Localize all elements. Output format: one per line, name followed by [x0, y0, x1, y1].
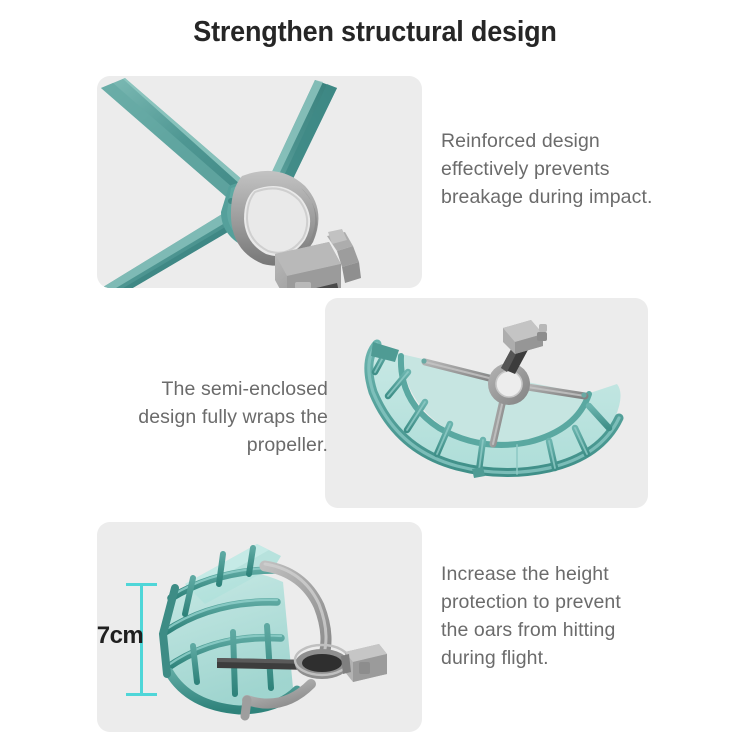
feature-caption-semi-enclosed-design: The semi-enclosed design fully wraps the…: [128, 375, 328, 459]
dimension-cap-bottom: [126, 693, 157, 696]
feature-caption-height-protection: Increase the height protection to preven…: [441, 560, 651, 672]
propeller-guard-semi-enclosed-photo: [325, 298, 648, 508]
page-title: Strengthen structural design: [26, 16, 724, 49]
feature-caption-reinforced-design: Reinforced design effectively prevents b…: [441, 127, 656, 211]
height-dimension-annotation: 7cm: [112, 578, 170, 702]
feature-panel-reinforced-design: [97, 76, 422, 288]
propeller-guard-cross-frame-photo: [79, 66, 439, 306]
dimension-label: 7cm: [70, 622, 170, 650]
feature-panel-semi-enclosed-design: [325, 298, 648, 508]
infographic-page: Strengthen structural design: [0, 0, 750, 750]
